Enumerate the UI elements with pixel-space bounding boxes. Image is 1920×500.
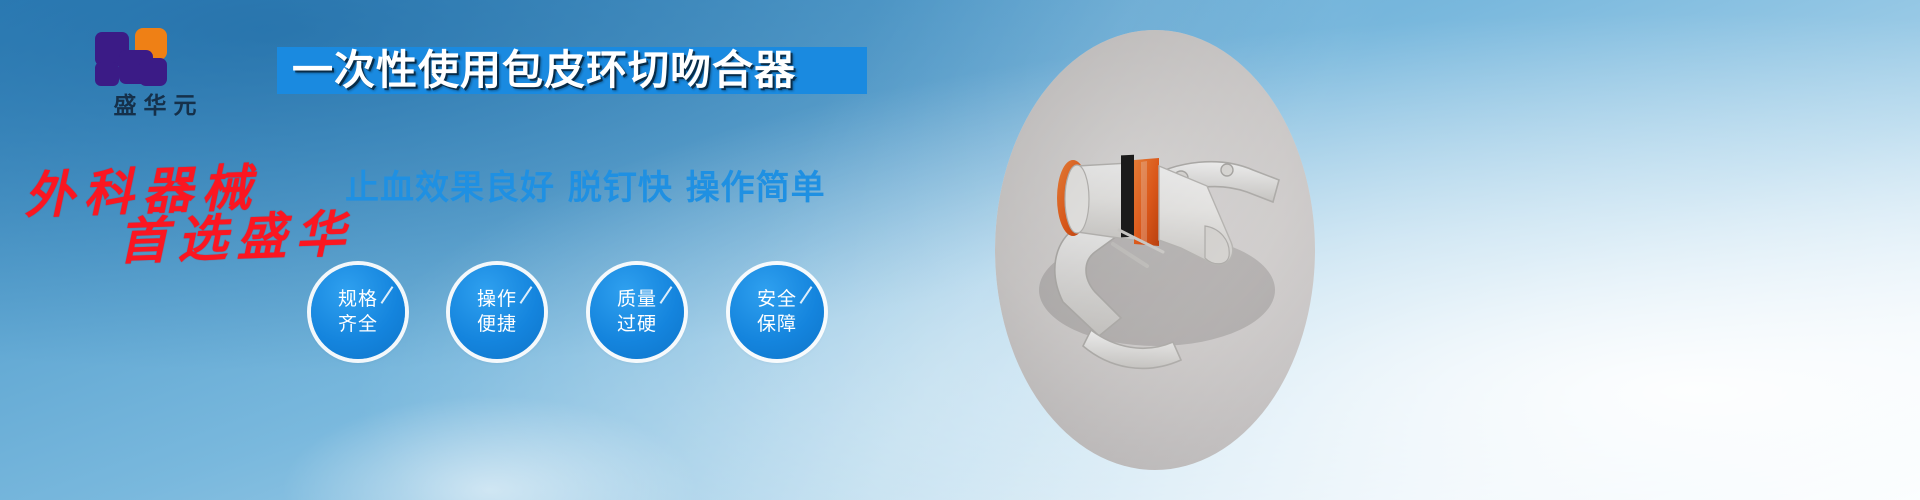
logo-company-name: 盛华元: [60, 86, 250, 120]
logo-square-purple-bottom-left: [95, 62, 119, 86]
badge-slash-icon: [381, 286, 394, 304]
badge-label-line2: 齐全: [338, 312, 378, 337]
page-title: 一次性使用包皮环切吻合器: [292, 42, 872, 98]
badge-safety-guarantee[interactable]: 安全 保障: [730, 265, 824, 359]
badge-easy-operation[interactable]: 操作 便捷: [450, 265, 544, 359]
badge-label-line2: 保障: [757, 312, 797, 337]
slogan-calligraphy-line-2: 首选盛华: [117, 194, 355, 274]
badge-label-line2: 过硬: [617, 312, 657, 337]
badge-slash-icon: [660, 286, 673, 304]
background-glow: [280, 395, 700, 500]
product-stapler-illustration: [995, 30, 1315, 470]
badge-solid-quality[interactable]: 质量 过硬: [590, 265, 684, 359]
badge-slash-icon: [800, 286, 813, 304]
badge-label-line1: 规格: [338, 287, 378, 312]
logo-square-purple-bottom-right: [139, 58, 167, 86]
badge-label-line1: 安全: [757, 287, 797, 312]
badge-label-line2: 便捷: [477, 312, 517, 337]
badge-specifications-complete[interactable]: 规格 齐全: [311, 265, 405, 359]
brand-logo[interactable]: 盛华元: [60, 28, 250, 123]
badge-label-line1: 质量: [617, 287, 657, 312]
badge-label-line1: 操作: [477, 287, 517, 312]
subtitle-features: 止血效果良好 脱钉快 操作简单: [345, 166, 965, 210]
product-banner: 盛华元 一次性使用包皮环切吻合器 外科器械 首选盛华 止血效果良好 脱钉快 操作…: [0, 0, 1920, 500]
feature-badge-group: 规格 齐全 操作 便捷 质量 过硬 安全 保障: [311, 265, 831, 361]
product-image: [995, 30, 1315, 470]
badge-slash-icon: [520, 286, 533, 304]
logo-mark-icon: [95, 28, 175, 88]
